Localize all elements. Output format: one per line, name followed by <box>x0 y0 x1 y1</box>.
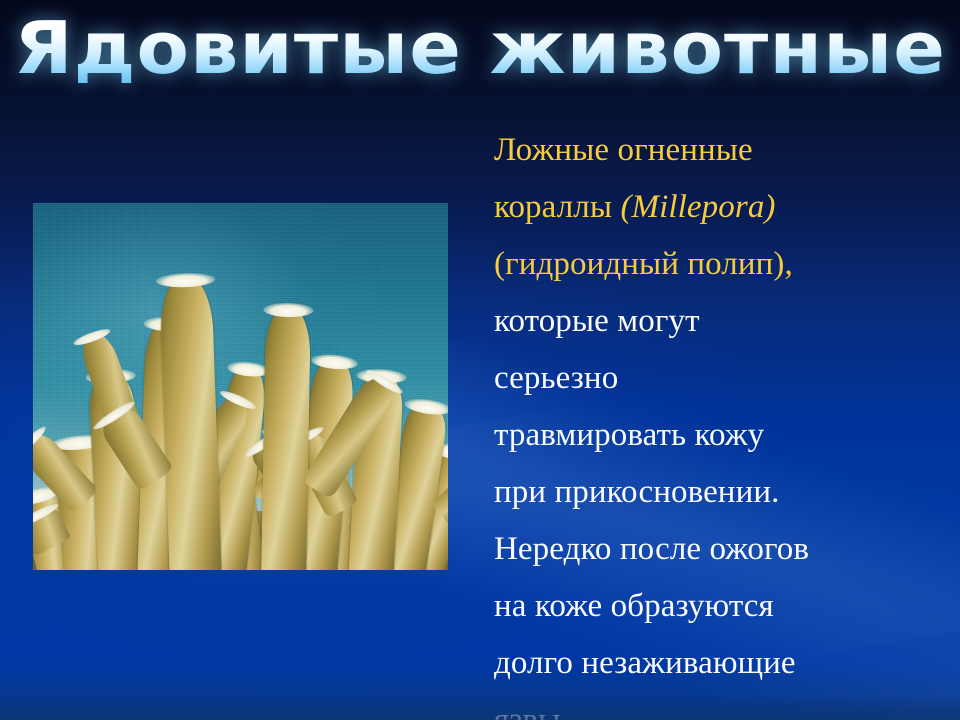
slide-title-text: Ядовитые животные <box>0 4 960 92</box>
text-run: травмировать кожу <box>494 417 764 453</box>
description-line: язвы. <box>494 692 942 720</box>
presentation-slide: Ядовитые животные Ядовитые животные Ложн… <box>0 0 960 720</box>
text-run: на коже образуются <box>494 588 774 624</box>
text-run: (гидроидный полип), <box>494 246 793 282</box>
description-line: Ложные огненные <box>494 122 942 179</box>
description-line: травмировать кожу <box>494 407 942 464</box>
description-line: долго незаживающие <box>494 635 942 692</box>
text-run: Ложные огненные <box>494 132 753 168</box>
text-run: серьезно <box>494 360 618 396</box>
description-text-block: Ложные огненныекораллы (Millepora)(гидро… <box>494 122 942 720</box>
description-line: при прикосновении. <box>494 464 942 521</box>
text-run: при прикосновении. <box>494 474 779 510</box>
description-line: которые могут <box>494 293 942 350</box>
text-run: долго незаживающие <box>494 645 796 681</box>
description-line: Нередко после ожогов <box>494 521 942 578</box>
coral-photo <box>33 203 448 570</box>
text-run: которые могут <box>494 303 700 339</box>
description-line: на коже образуются <box>494 578 942 635</box>
scientific-name: (Millepora) <box>620 189 775 225</box>
description-line: кораллы (Millepora) <box>494 179 942 236</box>
description-line: серьезно <box>494 350 942 407</box>
slide-title: Ядовитые животные Ядовитые животные <box>0 4 960 96</box>
text-run: язвы. <box>494 702 569 720</box>
coral-branch <box>261 305 311 570</box>
description-line: (гидроидный полип), <box>494 236 942 293</box>
text-run: кораллы <box>494 189 620 225</box>
text-run: Нередко после ожогов <box>494 531 809 567</box>
